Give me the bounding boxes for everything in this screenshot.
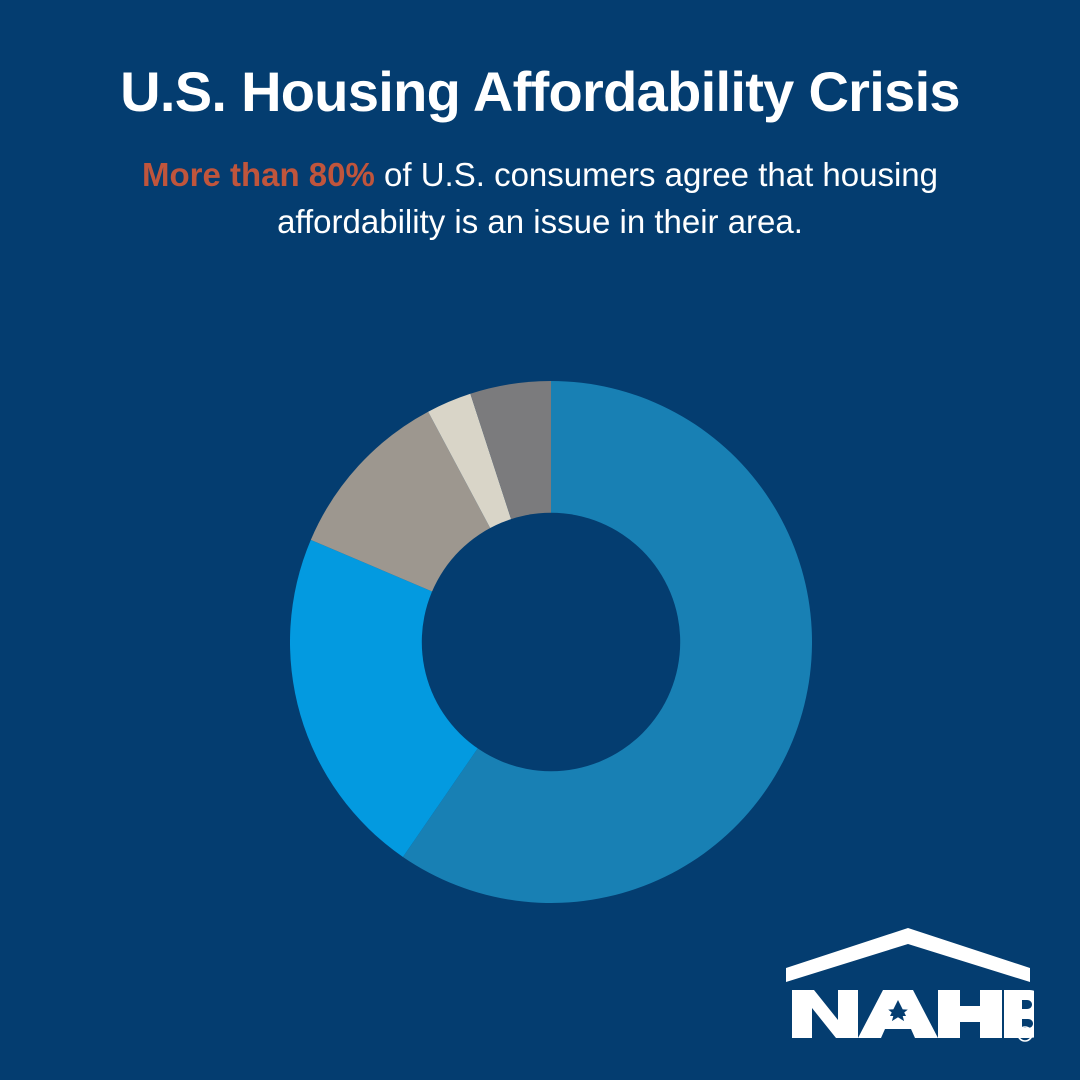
subtitle-accent-stat: More than 80% (142, 156, 375, 193)
poster-canvas: U.S. Housing Affordability Crisis More t… (0, 0, 1080, 1080)
subtitle-rest: of U.S. consumers agree that housing aff… (277, 156, 938, 240)
donut-chart (290, 381, 812, 903)
page-title: U.S. Housing Affordability Crisis (0, 62, 1080, 122)
header: U.S. Housing Affordability Crisis More t… (0, 0, 1080, 246)
donut-chart-svg (290, 381, 812, 903)
subtitle: More than 80% of U.S. consumers agree th… (125, 152, 955, 246)
svg-text:R: R (1022, 1030, 1028, 1039)
house-roof-icon (786, 928, 1030, 982)
nahb-logo: R (782, 924, 1034, 1042)
donut-center-hole (422, 513, 680, 771)
nahb-logo-svg: R (782, 924, 1034, 1042)
nahb-wordmark (792, 990, 1034, 1038)
